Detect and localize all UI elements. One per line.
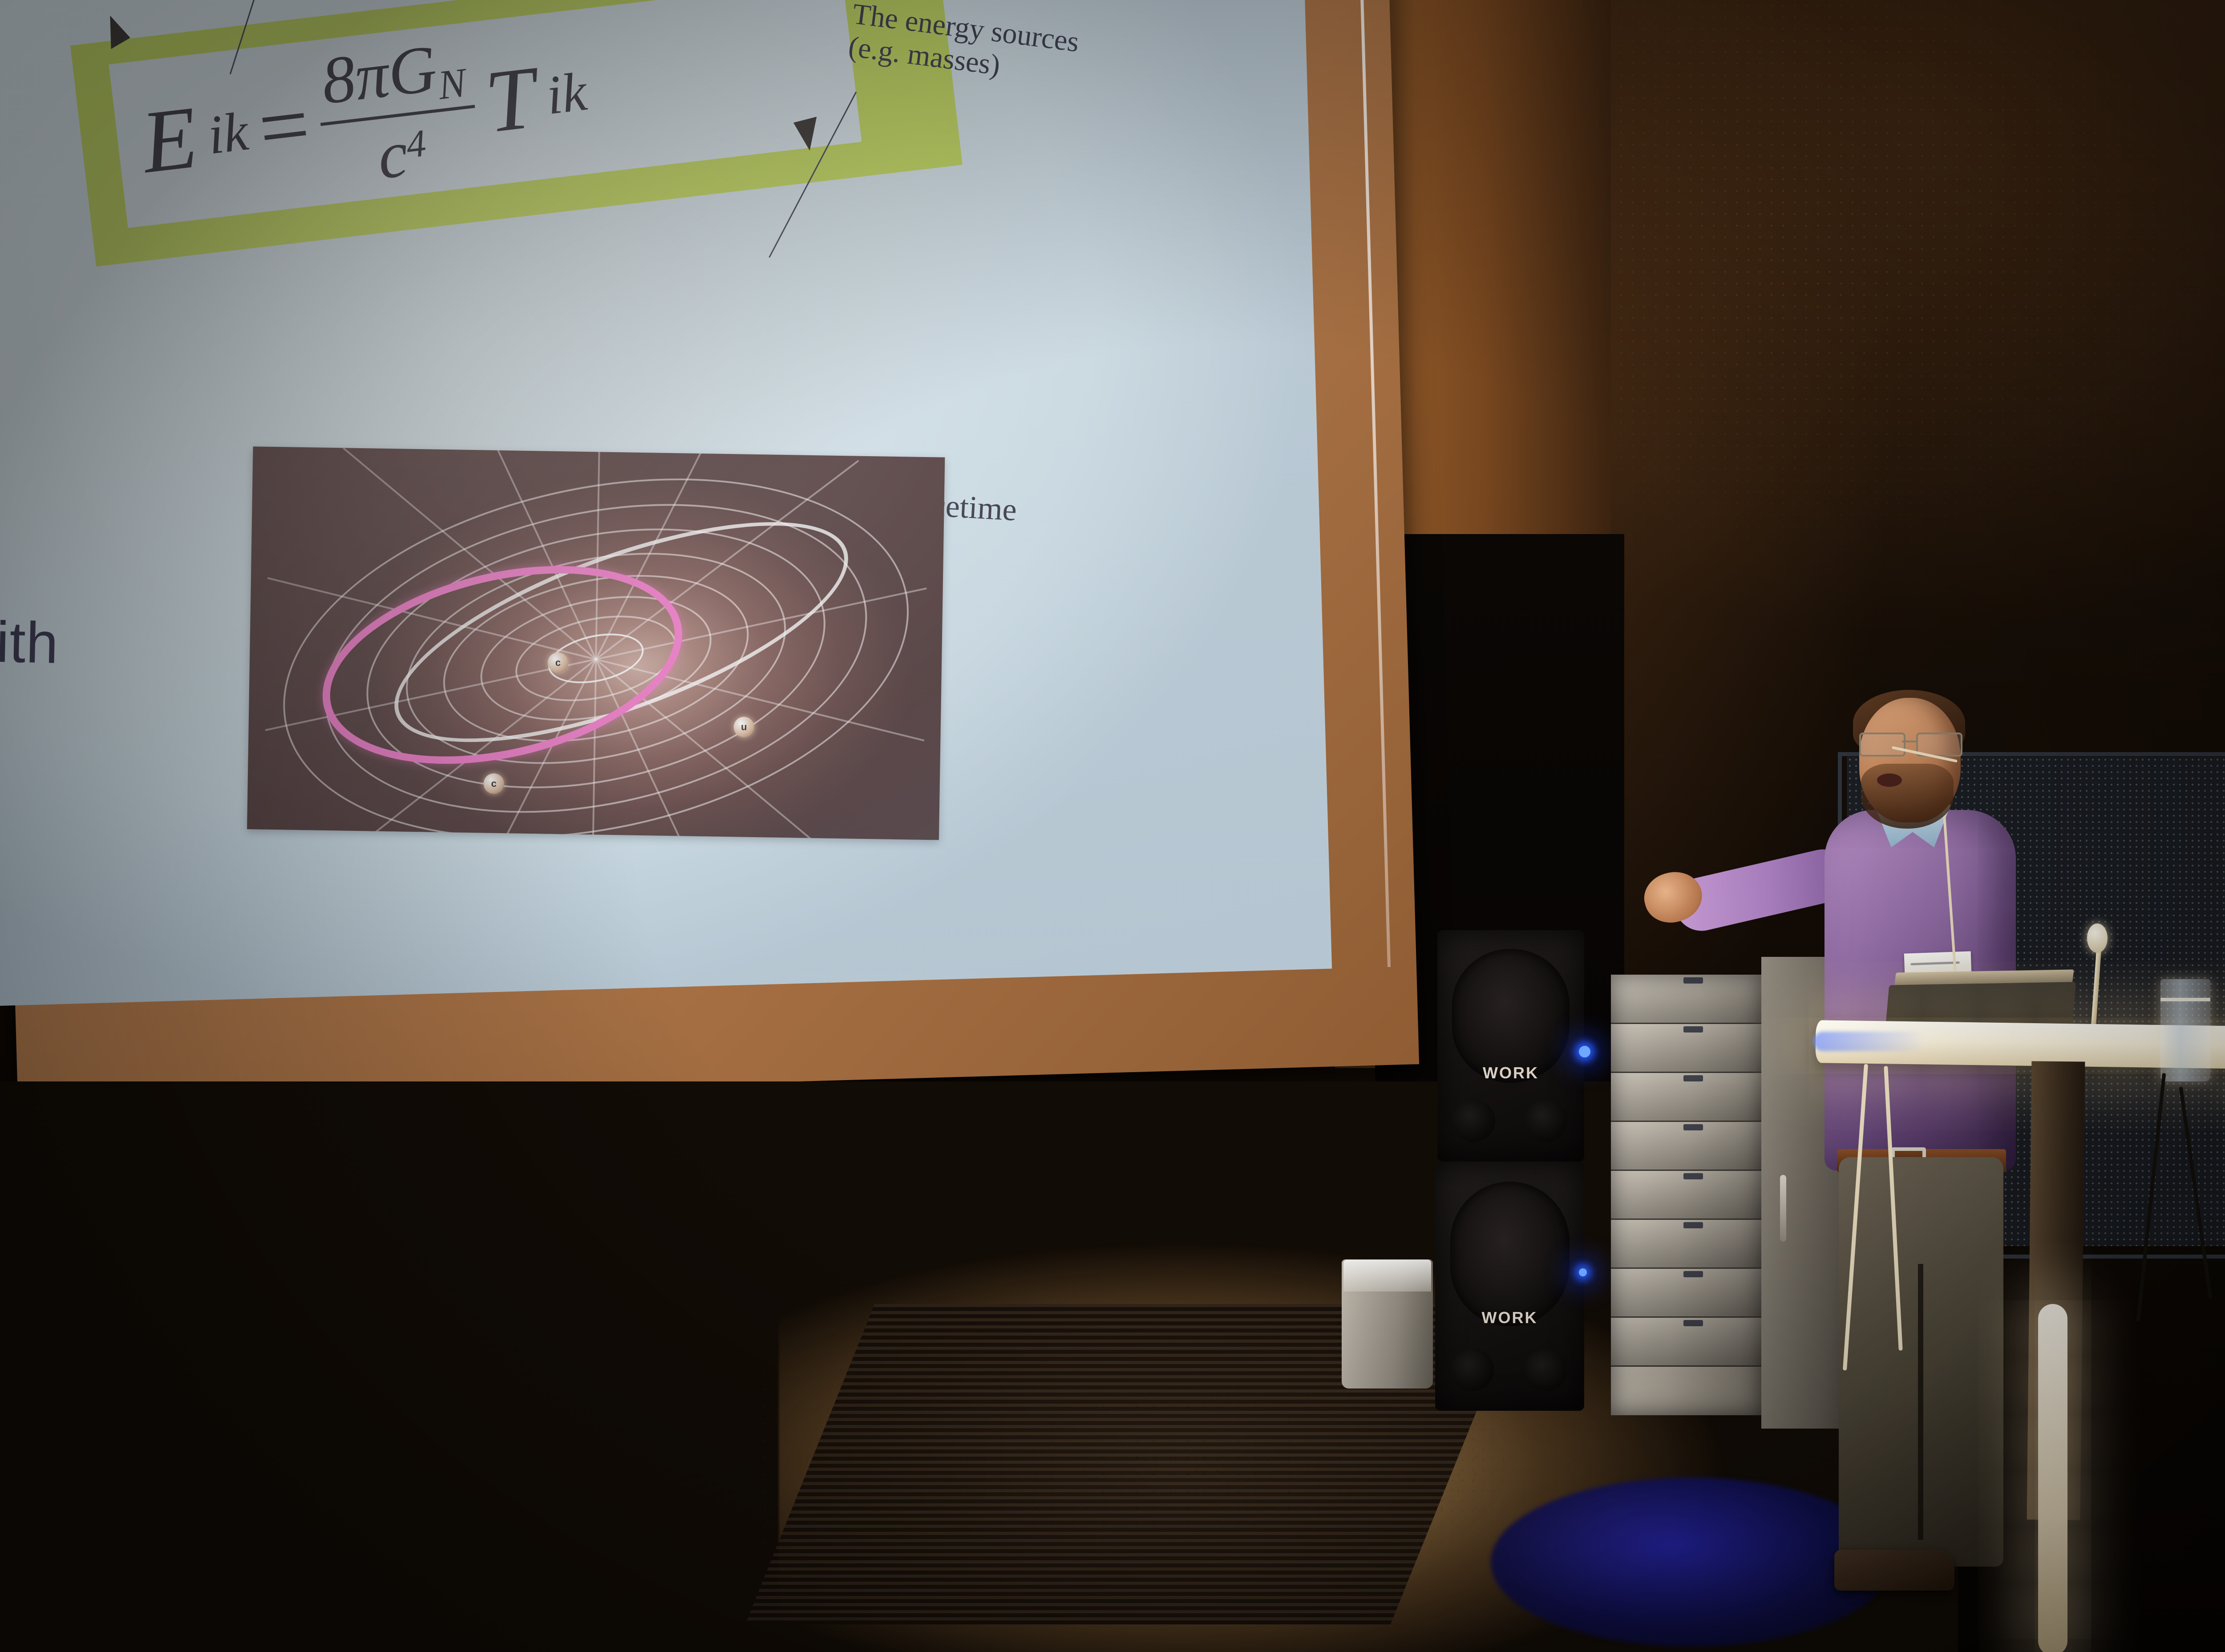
bin-liner [1343,1259,1431,1292]
equation-denominator: c4 [368,113,437,190]
projection-screen: ...n of Spacetime Eik = 8πGN c4 [0,0,1419,1103]
speaker-port [1525,1099,1567,1142]
presentation-slide: ...n of Spacetime Eik = 8πGN c4 [0,0,1318,1000]
equation-rhs: T [481,53,541,147]
pa-speaker-lower: WORK [1435,1162,1584,1411]
perforated-wall-texture [1557,0,2225,757]
equation-relation: = [254,80,314,174]
speaker-port [1524,1348,1567,1391]
pa-speaker-upper: WORK [1437,930,1584,1162]
trouser-leg-seam [1918,1264,1923,1540]
equation-lhs-sub: ik [205,104,251,163]
speaker-led-indicator [1579,1046,1590,1057]
presenter-beard [1861,764,1954,829]
drawer-cabinet[interactable] [1611,975,1762,1415]
equation-fraction: 8πGN c4 [312,31,483,196]
speaker-cone [1452,949,1570,1083]
equation-lhs: E [138,93,202,188]
waste-bin [1342,1259,1433,1389]
microphone-icon [2087,923,2108,953]
floor-light-pole [2038,1304,2067,1652]
speaker-led-indicator [1579,1268,1587,1276]
presenter-mouth [1877,773,1902,787]
speaker-port [1452,1099,1495,1142]
lecture-photo-scene: ...n of Spacetime Eik = 8πGN c4 [0,0,2225,1652]
label-with: with [0,607,59,676]
speaker-cone [1450,1182,1570,1326]
speaker-brand-label: WORK [1482,1308,1538,1327]
presenter-shoe [1834,1550,1954,1591]
lectern-blue-glow [1813,1032,1925,1051]
water-glass [2160,979,2210,1081]
speaker-port [1451,1348,1494,1391]
speaker-brand-label: WORK [1483,1064,1539,1082]
equation-rhs-sub: ik [543,64,589,123]
screen-surface: ...n of Spacetime Eik = 8πGN c4 [0,0,1332,1006]
presenter [1758,676,2158,1652]
spacetime-curvature-figure: c c u [247,446,945,840]
